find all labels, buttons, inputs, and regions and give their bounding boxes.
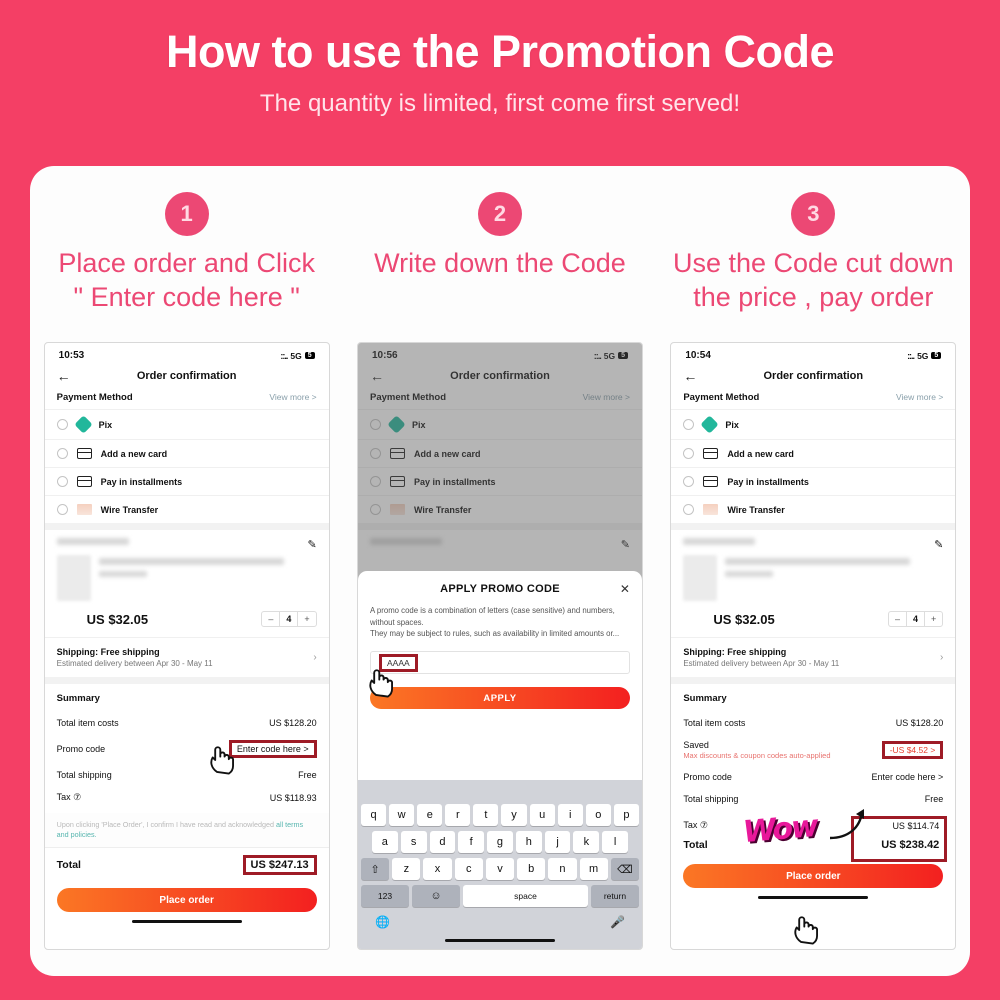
summary-value: Free — [925, 794, 944, 804]
status-bar: 10:53 ::.. 5G 5 — [45, 343, 329, 364]
product-variant-blurred — [99, 571, 147, 577]
keyboard-row-4: 123 ☺ space return — [361, 885, 639, 907]
page-header: How to use the Promotion Code The quanti… — [0, 0, 1000, 118]
key-m[interactable]: m — [580, 858, 608, 880]
chevron-right-icon: › — [313, 652, 316, 663]
key-j[interactable]: j — [545, 831, 571, 853]
key-x[interactable]: x — [423, 858, 451, 880]
summary-value: Free — [298, 770, 317, 780]
return-key[interactable]: return — [591, 885, 639, 907]
section-divider — [671, 523, 955, 530]
nav-title: Order confirmation — [137, 370, 237, 382]
key-p[interactable]: p — [614, 804, 639, 826]
payment-option-label: Wire Transfer — [101, 505, 158, 515]
summary-title: Summary — [57, 693, 317, 704]
radio-icon[interactable] — [683, 504, 694, 515]
globe-icon[interactable]: 🌐 — [375, 915, 390, 929]
key-k[interactable]: k — [573, 831, 599, 853]
step-badge-1: 1 — [165, 192, 209, 236]
qty-value: 4 — [279, 612, 298, 626]
home-indicator — [758, 896, 868, 899]
summary-row-promo-code[interactable]: Promo code Enter code here > — [57, 734, 317, 764]
shift-key[interactable]: ⇧ — [361, 858, 389, 880]
credit-card-icon — [77, 448, 92, 459]
payment-option-add-card[interactable]: Add a new card — [671, 439, 955, 467]
page-title: How to use the Promotion Code — [0, 26, 1000, 78]
summary-block: Summary Total item costs US $128.20 Prom… — [45, 684, 329, 813]
home-indicator — [132, 920, 242, 923]
key-v[interactable]: v — [486, 858, 514, 880]
payment-option-add-card[interactable]: Add a new card — [45, 439, 329, 467]
payment-option-installments[interactable]: Pay in installments — [671, 467, 955, 495]
payment-option-label: Pix — [725, 420, 739, 430]
phone-screenshot-2: 10:56 ::.. 5G 5 ← Order confirmation Pay… — [357, 342, 643, 950]
payment-option-label: Pay in installments — [727, 477, 809, 487]
saved-sublabel: Max discounts & coupon codes auto-applie… — [683, 751, 830, 760]
pix-icon — [701, 415, 719, 433]
qty-plus-button[interactable]: + — [298, 612, 315, 626]
pix-icon — [74, 415, 92, 433]
key-t[interactable]: t — [473, 804, 498, 826]
phone-screenshot-3: 10:54 ::.. 5G 5 ← Order confirmation Pay… — [670, 342, 956, 950]
terms-text: Upon clicking 'Place Order', I confirm I… — [45, 813, 329, 847]
nav-title: Order confirmation — [764, 370, 864, 382]
key-z[interactable]: z — [392, 858, 420, 880]
summary-value: US $128.20 — [269, 718, 317, 728]
qty-value: 4 — [906, 612, 925, 626]
store-name-blurred — [57, 538, 129, 545]
key-i[interactable]: i — [558, 804, 583, 826]
shipping-row[interactable]: Shipping: Free shipping Estimated delive… — [45, 637, 329, 677]
qty-minus-button[interactable]: – — [889, 612, 906, 626]
payment-option-installments[interactable]: Pay in installments — [45, 467, 329, 495]
promo-instructions-page: How to use the Promotion Code The quanti… — [0, 0, 1000, 1000]
nav-bar: ← Order confirmation — [45, 364, 329, 390]
place-order-button[interactable]: Place order — [683, 864, 943, 888]
content-card: 1 Place order and Click " Enter code her… — [30, 166, 970, 976]
home-indicator — [445, 939, 555, 942]
radio-icon[interactable] — [57, 476, 68, 487]
summary-row-promo-code[interactable]: Promo code Enter code here > — [683, 766, 943, 788]
wire-transfer-icon — [77, 504, 92, 515]
key-d[interactable]: d — [430, 831, 456, 853]
step-2: 2 Write down the Code — [343, 192, 656, 315]
quantity-stepper[interactable]: – 4 + — [888, 611, 943, 627]
summary-row-item-costs: Total item costs US $128.20 — [683, 712, 943, 734]
summary-block: Summary Total item costs US $128.20 Save… — [671, 684, 955, 814]
signal-icon: ::.. — [280, 351, 287, 361]
summary-label: Tax ⑦ — [57, 792, 82, 803]
key-r[interactable]: r — [445, 804, 470, 826]
payment-method-header: Payment Method View more > — [45, 390, 329, 409]
step-title-2: Write down the Code — [351, 246, 648, 280]
summary-value: US $118.93 — [270, 793, 317, 803]
key-f[interactable]: f — [458, 831, 484, 853]
payment-option-label: Pix — [99, 420, 113, 430]
summary-label: Total shipping — [683, 794, 738, 804]
total-label: Total — [57, 859, 81, 871]
phone-screenshots-row: 10:53 ::.. 5G 5 ← Order confirmation Pay… — [30, 342, 970, 962]
arrow-left-icon[interactable]: ← — [57, 369, 71, 383]
apply-button[interactable]: APPLY — [370, 687, 630, 709]
product-price: US $32.05 — [683, 612, 774, 627]
payment-option-label: Add a new card — [727, 449, 794, 459]
page-subtitle: The quantity is limited, first come firs… — [0, 90, 1000, 118]
numbers-key[interactable]: 123 — [361, 885, 409, 907]
summary-label: Total shipping — [57, 770, 112, 780]
saved-label: Saved — [683, 740, 830, 750]
radio-icon[interactable] — [57, 504, 68, 515]
phone-screenshot-1: 10:53 ::.. 5G 5 ← Order confirmation Pay… — [44, 342, 330, 950]
key-q[interactable]: q — [361, 804, 386, 826]
product-variant-blurred — [725, 571, 773, 577]
keyboard-row-1: q w e r t y u i o p — [361, 804, 639, 826]
payment-method-label: Payment Method — [683, 392, 759, 403]
network-label: 5G — [290, 351, 301, 361]
hand-pointer-icon — [789, 913, 823, 947]
summary-label: Total item costs — [57, 718, 119, 728]
space-key[interactable]: space — [463, 885, 588, 907]
shipping-title: Shipping: Free shipping — [57, 647, 213, 657]
keyboard-row-3: ⇧ z x c v b n m ⌫ — [361, 858, 639, 880]
summary-row-tax: Tax ⑦ US $118.93 — [57, 786, 317, 809]
saved-amount[interactable]: -US $4.52 > — [882, 741, 944, 759]
payment-option-label: Pay in installments — [101, 477, 183, 487]
product-block: ✎ US $32.05 – 4 + — [45, 530, 329, 629]
microphone-icon[interactable]: 🎤 — [610, 915, 625, 929]
status-bar: 10:54 ::.. 5G 5 — [671, 343, 955, 364]
arrow-left-icon[interactable]: ← — [683, 369, 697, 383]
section-divider — [45, 523, 329, 530]
nav-bar: ← Order confirmation — [671, 364, 955, 390]
shipping-estimate: Estimated delivery between Apr 30 - May … — [683, 659, 839, 668]
network-label: 5G — [917, 351, 928, 361]
key-s[interactable]: s — [401, 831, 427, 853]
step-badge-2: 2 — [478, 192, 522, 236]
keyboard-bottom-row: 🌐 🎤 — [361, 912, 639, 935]
product-title-blurred — [99, 558, 284, 565]
product-price: US $32.05 — [57, 612, 148, 627]
key-g[interactable]: g — [487, 831, 513, 853]
total-label: Total — [683, 839, 707, 851]
key-w[interactable]: w — [389, 804, 414, 826]
keyboard-row-2: a s d f g h j k l — [361, 831, 639, 853]
key-o[interactable]: o — [586, 804, 611, 826]
summary-label: Total item costs — [683, 718, 745, 728]
on-screen-keyboard: q w e r t y u i o p a — [358, 780, 642, 949]
modal-title: APPLY PROMO CODE — [440, 583, 560, 595]
summary-row-shipping: Total shipping Free — [57, 764, 317, 786]
product-thumbnail — [57, 555, 91, 601]
step-1: 1 Place order and Click " Enter code her… — [30, 192, 343, 315]
curved-arrow-icon — [826, 806, 872, 842]
summary-value: US $128.20 — [896, 718, 944, 728]
status-time: 10:54 — [685, 350, 711, 361]
step-title-3: Use the Code cut down the price , pay or… — [665, 246, 962, 315]
product-title-blurred — [725, 558, 910, 565]
radio-icon[interactable] — [57, 419, 68, 430]
summary-row-item-costs: Total item costs US $128.20 — [57, 712, 317, 734]
wire-transfer-icon — [703, 504, 718, 515]
payment-option-wire[interactable]: Wire Transfer — [45, 495, 329, 523]
battery-icon: 5 — [305, 352, 315, 359]
pencil-icon[interactable]: ✎ — [934, 538, 943, 551]
step-badge-3: 3 — [791, 192, 835, 236]
key-u[interactable]: u — [530, 804, 555, 826]
key-c[interactable]: c — [455, 858, 483, 880]
view-more-link[interactable]: View more > — [269, 392, 316, 402]
radio-icon[interactable] — [683, 448, 694, 459]
shipping-estimate: Estimated delivery between Apr 30 - May … — [57, 659, 213, 668]
total-value: US $247.13 — [243, 855, 317, 875]
apply-promo-code-modal: APPLY PROMO CODE ✕ A promo code is a com… — [358, 571, 642, 949]
payment-option-label: Add a new card — [101, 449, 168, 459]
step-title-1: Place order and Click " Enter code here … — [38, 246, 335, 315]
product-thumbnail — [683, 555, 717, 601]
terms-sentence: Upon clicking 'Place Order', I confirm I… — [57, 820, 276, 829]
summary-label: Tax ⑦ — [683, 820, 708, 831]
key-h[interactable]: h — [516, 831, 542, 853]
modal-header: APPLY PROMO CODE ✕ — [358, 571, 642, 605]
steps-row: 1 Place order and Click " Enter code her… — [30, 166, 970, 315]
shipping-row[interactable]: Shipping: Free shipping Estimated delive… — [671, 637, 955, 677]
backspace-key[interactable]: ⌫ — [611, 858, 639, 880]
enter-code-here-link[interactable]: Enter code here > — [872, 772, 944, 782]
qty-minus-button[interactable]: – — [262, 612, 279, 626]
credit-card-icon — [77, 476, 92, 487]
keyboard-suggestion-bar — [361, 784, 639, 804]
promo-code-input[interactable]: AAAA — [370, 651, 630, 674]
shipping-title: Shipping: Free shipping — [683, 647, 839, 657]
modal-description: A promo code is a combination of letters… — [358, 605, 642, 640]
radio-icon[interactable] — [683, 419, 694, 430]
summary-label: Promo code — [683, 772, 732, 782]
status-time: 10:53 — [59, 350, 85, 361]
enter-code-here-link[interactable]: Enter code here > — [229, 740, 317, 758]
pencil-icon[interactable]: ✎ — [307, 538, 316, 551]
store-name-blurred — [683, 538, 755, 545]
key-l[interactable]: l — [602, 831, 628, 853]
summary-row-saved[interactable]: Saved Max discounts & coupon codes auto-… — [683, 734, 943, 766]
step-3: 3 Use the Code cut down the price , pay … — [657, 192, 970, 315]
emoji-key[interactable]: ☺ — [412, 885, 460, 907]
close-icon[interactable]: ✕ — [620, 582, 630, 596]
section-divider — [45, 677, 329, 684]
radio-icon[interactable] — [683, 476, 694, 487]
key-e[interactable]: e — [417, 804, 442, 826]
key-a[interactable]: a — [372, 831, 398, 853]
wow-badge: Wow — [742, 809, 819, 850]
payment-option-wire[interactable]: Wire Transfer — [671, 495, 955, 523]
credit-card-icon — [703, 476, 718, 487]
key-n[interactable]: n — [548, 858, 576, 880]
product-block: ✎ US $32.05 – 4 + — [671, 530, 955, 629]
summary-title: Summary — [683, 693, 943, 704]
promo-code-value: AAAA — [379, 654, 418, 672]
payment-option-label: Wire Transfer — [727, 505, 784, 515]
payment-method-label: Payment Method — [57, 392, 133, 403]
qty-plus-button[interactable]: + — [925, 612, 942, 626]
view-more-link[interactable]: View more > — [896, 392, 943, 402]
quantity-stepper[interactable]: – 4 + — [261, 611, 316, 627]
chevron-right-icon: › — [940, 652, 943, 663]
place-order-button[interactable]: Place order — [57, 888, 317, 912]
credit-card-icon — [703, 448, 718, 459]
summary-label: Promo code — [57, 744, 106, 754]
payment-option-pix[interactable]: Pix — [45, 409, 329, 439]
radio-icon[interactable] — [57, 448, 68, 459]
section-divider — [671, 677, 955, 684]
key-b[interactable]: b — [517, 858, 545, 880]
payment-method-header: Payment Method View more > — [671, 390, 955, 409]
total-bar: Total US $247.13 — [45, 847, 329, 882]
signal-icon: ::.. — [907, 351, 914, 361]
payment-option-pix[interactable]: Pix — [671, 409, 955, 439]
battery-icon: 5 — [931, 352, 941, 359]
key-y[interactable]: y — [501, 804, 526, 826]
summary-row-shipping: Total shipping Free — [683, 788, 943, 810]
